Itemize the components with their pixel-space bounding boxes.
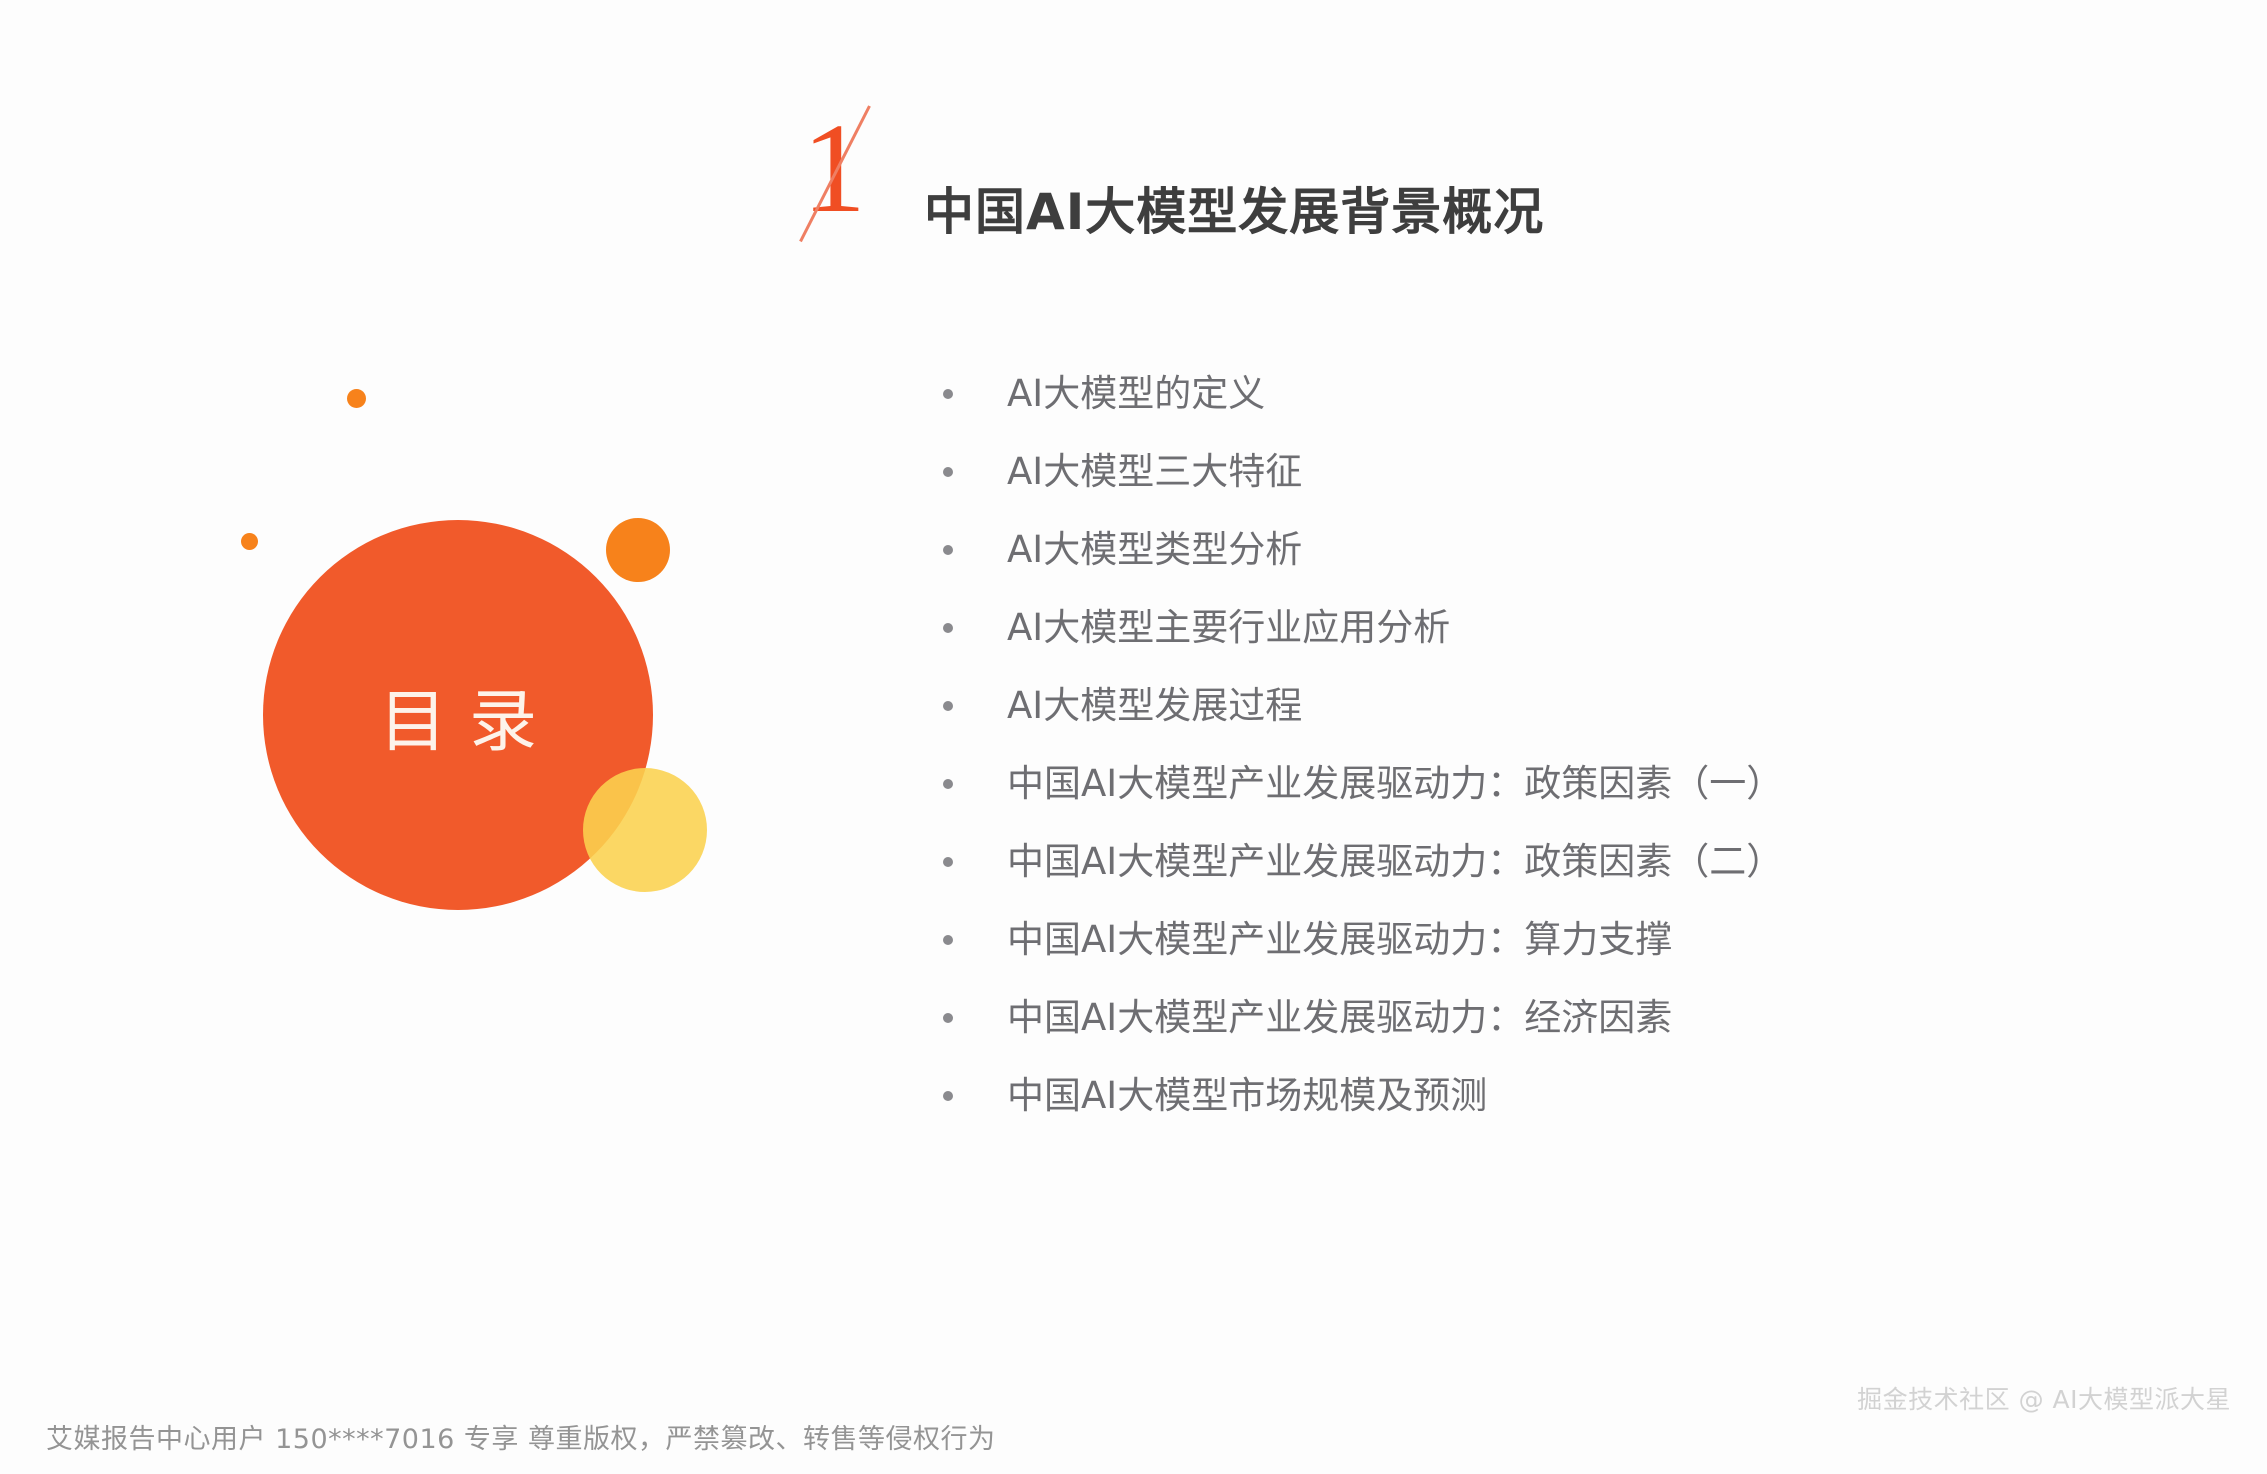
list-item[interactable]: AI大模型的定义: [935, 355, 2235, 433]
list-item-label: 中国AI大模型产业发展驱动力：政策因素（一）: [1007, 762, 1783, 805]
bullet-dot-icon: [943, 1013, 953, 1023]
bullet-dot-icon: [943, 1091, 953, 1101]
list-item[interactable]: AI大模型发展过程: [935, 667, 2235, 745]
decorative-dot-lower-icon: [241, 533, 258, 550]
bullet-dot-icon: [943, 623, 953, 633]
list-item[interactable]: AI大模型三大特征: [935, 433, 2235, 511]
section-number: 1: [802, 104, 866, 232]
section-header: 1 中国AI大模型发展背景概况: [800, 128, 2180, 256]
list-item-label: AI大模型三大特征: [1007, 450, 1302, 493]
copyright-notice: 艾媒报告中心用户 150****7016 专享 尊重版权，严禁篡改、转售等侵权行…: [46, 1417, 996, 1456]
list-item[interactable]: 中国AI大模型产业发展驱动力：经济因素: [935, 979, 2235, 1057]
bullet-dot-icon: [943, 545, 953, 555]
list-item[interactable]: 中国AI大模型市场规模及预测: [935, 1057, 2235, 1135]
bullet-dot-icon: [943, 935, 953, 945]
list-item-label: AI大模型主要行业应用分析: [1007, 606, 1450, 649]
list-item-label: AI大模型发展过程: [1007, 684, 1302, 727]
bullet-dot-icon: [943, 389, 953, 399]
list-item[interactable]: 中国AI大模型产业发展驱动力：算力支撑: [935, 901, 2235, 979]
list-item-label: 中国AI大模型产业发展驱动力：算力支撑: [1007, 918, 1672, 961]
bullet-dot-icon: [943, 467, 953, 477]
list-item-label: AI大模型的定义: [1007, 372, 1265, 415]
page-title: 中国AI大模型发展背景概况: [924, 172, 1544, 244]
section-number-row: 1 中国AI大模型发展背景概况: [800, 128, 2180, 256]
bullet-dot-icon: [943, 701, 953, 711]
list-item[interactable]: 中国AI大模型产业发展驱动力：政策因素（一）: [935, 745, 2235, 823]
bullet-dot-icon: [943, 779, 953, 789]
list-item[interactable]: AI大模型主要行业应用分析: [935, 589, 2235, 667]
list-item-label: AI大模型类型分析: [1007, 528, 1302, 571]
bullet-dot-icon: [943, 857, 953, 867]
toc-list: AI大模型的定义 AI大模型三大特征 AI大模型类型分析 AI大模型主要行业应用…: [935, 355, 2235, 1135]
list-item[interactable]: AI大模型类型分析: [935, 511, 2235, 589]
list-item-label: 中国AI大模型市场规模及预测: [1007, 1074, 1487, 1117]
list-item-label: 中国AI大模型产业发展驱动力：经济因素: [1007, 996, 1672, 1039]
toc-label: 目录: [263, 520, 653, 910]
watermark: 掘金技术社区 @ AI大模型派大星: [1857, 1380, 2231, 1416]
list-item-label: 中国AI大模型产业发展驱动力：政策因素（二）: [1007, 840, 1783, 883]
list-item[interactable]: 中国AI大模型产业发展驱动力：政策因素（二）: [935, 823, 2235, 901]
decorative-dot-upper-icon: [347, 389, 366, 408]
toc-graphic: 目录: [0, 0, 900, 1000]
